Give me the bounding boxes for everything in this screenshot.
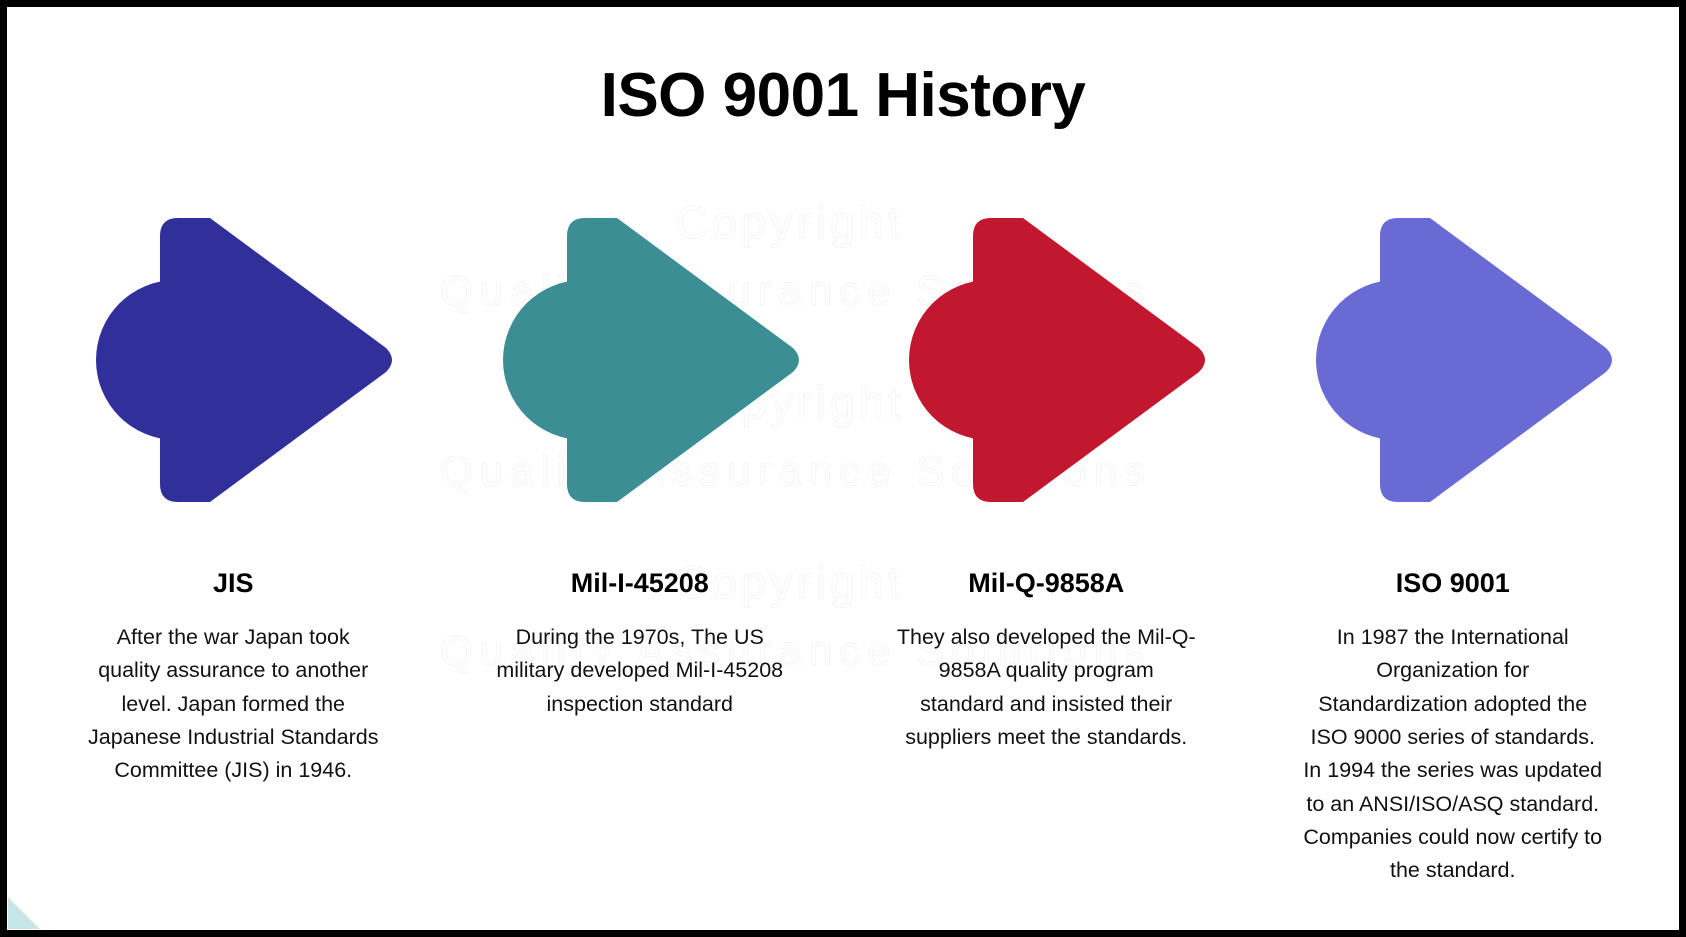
corner-accent-triangle — [8, 897, 40, 929]
history-step-body: During the 1970s, The US military develo… — [490, 621, 790, 721]
page-title: ISO 9001 History — [0, 60, 1686, 131]
history-step-iso-9001: ISO 9001 In 1987 the International Organ… — [1250, 210, 1657, 888]
history-step-body: In 1987 the International Organization f… — [1303, 621, 1603, 888]
history-step-heading: Mil-Q-9858A — [968, 568, 1124, 599]
slide-canvas: Copyright Quality Assurance Solutions Co… — [0, 0, 1686, 937]
right-arrow-circle-icon — [881, 210, 1211, 510]
right-arrow-circle-icon — [1288, 210, 1618, 510]
right-arrow-circle-icon — [475, 210, 805, 510]
history-step-heading: ISO 9001 — [1396, 568, 1510, 599]
history-columns: JIS After the war Japan took quality ass… — [30, 210, 1656, 888]
history-step-mil-i-45208: Mil-I-45208 During the 1970s, The US mil… — [437, 210, 844, 888]
history-step-body: After the war Japan took quality assuran… — [83, 621, 383, 788]
history-step-heading: Mil-I-45208 — [571, 568, 709, 599]
history-step-jis: JIS After the war Japan took quality ass… — [30, 210, 437, 888]
history-step-heading: JIS — [213, 568, 254, 599]
history-step-mil-q-9858a: Mil-Q-9858A They also developed the Mil-… — [843, 210, 1250, 888]
history-step-body: They also developed the Mil-Q-9858A qual… — [896, 621, 1196, 754]
right-arrow-circle-icon — [68, 210, 398, 510]
